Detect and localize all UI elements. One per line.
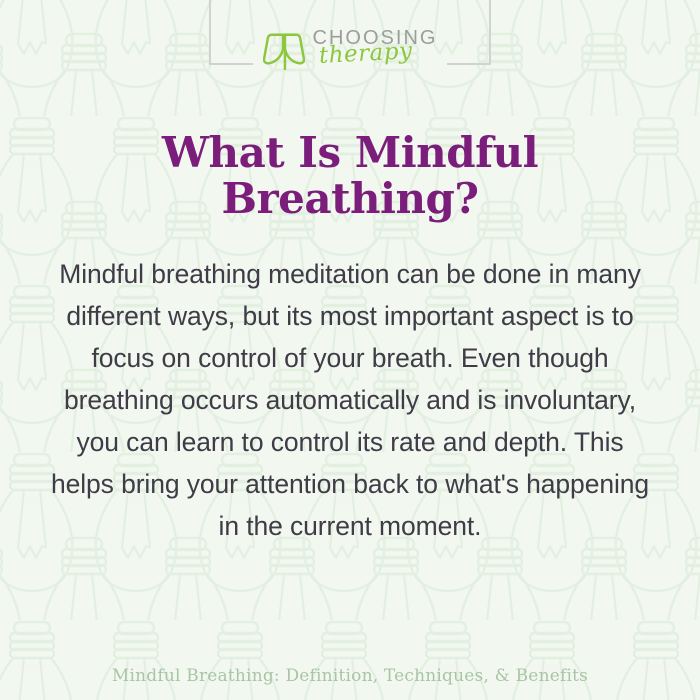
brand-logo[interactable]: CHOOSING therapy: [263, 28, 438, 70]
brand-wordmark: CHOOSING therapy: [313, 28, 438, 68]
main-content: What Is Mindful Breathing? Mindful breat…: [0, 130, 700, 547]
site-header: CHOOSING therapy: [0, 0, 700, 92]
body-paragraph: Mindful breathing meditation can be done…: [42, 254, 658, 547]
frame-bracket-left-icon: [209, 0, 253, 65]
footer: Mindful Breathing: Definition, Technique…: [0, 666, 700, 686]
logo-frame: CHOOSING therapy: [225, 7, 475, 85]
lotus-leaf-icon: [263, 30, 305, 70]
footer-caption: Mindful Breathing: Definition, Technique…: [112, 666, 588, 686]
frame-bracket-right-icon: [447, 0, 491, 65]
brand-name-script: therapy: [318, 39, 438, 68]
page-title: What Is Mindful Breathing?: [42, 130, 658, 222]
poster-canvas: CHOOSING therapy What Is Mindful Breathi…: [0, 0, 700, 700]
